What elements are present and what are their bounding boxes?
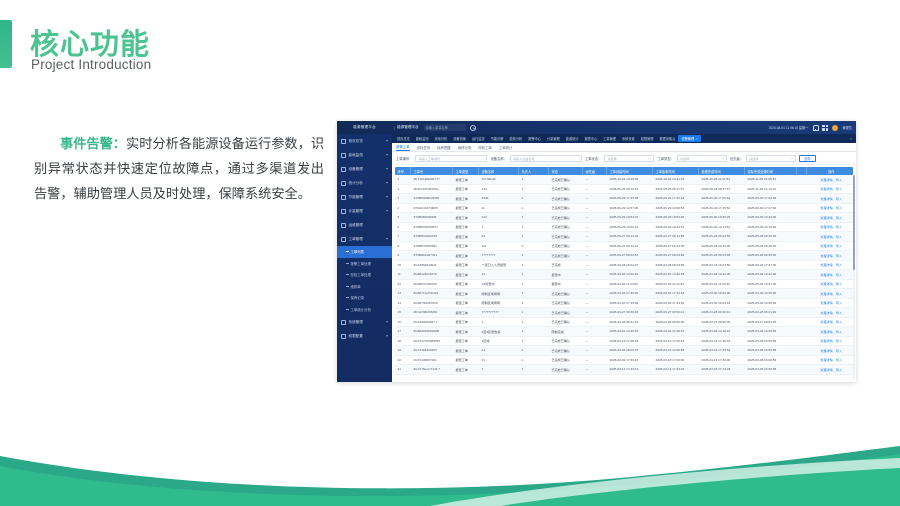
bullet-icon (346, 251, 349, 252)
filter-select-value: 请选择 (607, 156, 616, 161)
open-tab-2[interactable]: 用电分析 (432, 135, 451, 142)
cell-t1: 2025-03-03 17:35:00 (607, 291, 653, 295)
gear-icon (341, 320, 346, 325)
dashboard-icon (341, 139, 346, 144)
cell-t1: 2025-06-29 17:23:05 (607, 196, 653, 200)
table-row[interactable]: 7Z79BH04209763报警工单441已完成已确认—2025-06-27 0… (395, 232, 853, 242)
cell-type: 报警工单 (453, 253, 479, 258)
sidebar-subitem-label: 保养记录 (351, 295, 365, 300)
table-row[interactable]: 11ZG80123216170报警工单121报警中—2025-03-03 14:… (395, 270, 853, 280)
row-action-link[interactable]: 处理详情 (820, 243, 832, 248)
cell-t4: 2025-06-30 10:15:00 (745, 225, 797, 229)
cell-t2: 2025-10-24 14:31:34 (653, 177, 699, 181)
row-action-link[interactable]: 处理详情 (820, 196, 832, 201)
open-tab-15[interactable]: 告警管理× (678, 135, 701, 142)
sidebar-main-menu: 首页总览能耗监测设备管理统计分析节能管理计量管理运维管理工单管理 (337, 134, 392, 246)
open-tab-7[interactable]: 报警中心 (525, 135, 544, 142)
table-column-header-12: 操作 (807, 167, 853, 175)
ticket-icon (341, 237, 346, 242)
cell-t1: 2025-05-25 08:10:15 (607, 187, 653, 191)
module-tab-5[interactable]: 工单统计 (499, 145, 513, 152)
cell-t2: 2025-03-03 14:32:18 (653, 272, 699, 276)
cell-t2: 2025-03-03 11:22:32 (653, 282, 699, 286)
row-action-link[interactable]: 导入 (836, 300, 842, 305)
module-tab-3[interactable]: 维修记录 (458, 145, 472, 152)
cell-t4: 2025-03-06 03:06:58 (745, 358, 797, 362)
sidebar-item-0[interactable]: 首页总览 (337, 134, 392, 148)
cell-no: 1 (395, 177, 411, 181)
table-row[interactable]: 14ZG8073G2676C0报警工单限制区域阐明1已完成已确认—2025-03… (395, 299, 853, 309)
sidebar-item-4[interactable]: 节能管理 (337, 190, 392, 204)
cell-type: 报警工单 (453, 310, 479, 315)
avatar[interactable] (832, 125, 838, 131)
table-row[interactable]: 8Z79BH47900381报警工单1111已完成已确认—2025-06-27 … (395, 242, 853, 252)
sidebar-item-6[interactable]: 运维管理 (337, 218, 392, 232)
cell-t1: 2025-10-24 14:29:05 (607, 177, 653, 181)
module-tabs: 报警工单巡检任务保养提醒维修记录停机工单工单统计 (392, 143, 856, 152)
cell-owner: 1 (519, 310, 549, 314)
table-row[interactable]: 20ZG72106807201报警工单311已完成已确认—2025-03-02 … (395, 356, 853, 366)
query-button[interactable]: 查询 (799, 155, 815, 162)
cell-t3: 2025-06-30 10:25:26 (699, 215, 745, 219)
bullet-icon (346, 263, 349, 264)
table-row[interactable]: 12ZG08H1703F007报警工单A2时警中1报警中—2025-03-03 … (395, 280, 853, 290)
filter-toolbar: 工单编号：请输入工单编号设备名称：请输入设备名称工单状态：请选择工单类型：请选择… (392, 152, 856, 165)
row-action-link[interactable]: 处理详情 (820, 310, 832, 315)
open-tab-9[interactable]: 能源统计 (563, 135, 582, 142)
filter-label-4: 优先级： (730, 156, 743, 161)
cell-t4: 2025-03-06 03:06:58 (745, 348, 797, 352)
sidebar-subitem-label: 工单统计分析 (351, 307, 371, 312)
chevron-down-icon (722, 158, 724, 159)
cell-no: 13 (395, 291, 411, 295)
cell-no: 3 (395, 196, 411, 200)
cell-code: ZG80123216170 (411, 272, 453, 276)
table-column-header-11 (797, 167, 807, 175)
cell-t1: 2025-03-28 09:04:07 (607, 263, 653, 267)
cell-no: 12 (395, 282, 411, 286)
open-tab-6[interactable]: 能效分析 (507, 135, 526, 142)
cell-pri: — (583, 339, 607, 343)
cell-status: 已完成已确认 (549, 348, 583, 353)
cell-no: 15 (395, 310, 411, 314)
row-action-link[interactable]: 导入 (836, 205, 842, 210)
row-action-link[interactable]: 处理详情 (820, 357, 832, 362)
cell-no: 16 (395, 320, 411, 324)
chevron-down-icon (649, 158, 651, 159)
row-action-link[interactable]: 处理详情 (820, 300, 832, 305)
row-action-link[interactable]: 导入 (836, 215, 842, 220)
cell-t4: 2025-03-30 10:05:00 (745, 291, 797, 295)
filter-input-0[interactable]: 请输入工单编号 (415, 155, 487, 162)
cell-pri: — (583, 187, 607, 191)
scrollbar-thumb[interactable] (853, 175, 855, 270)
cell-pri: — (583, 234, 607, 238)
cell-t1: 2025-06-27 09:04:51 (607, 253, 653, 257)
cell-type: 报警工单 (453, 348, 479, 353)
table-row[interactable]: 5Z79B460002905报警工单2221已完成已确认—2025-06-29 … (395, 213, 853, 223)
cell-no: 20 (395, 358, 411, 362)
cell-t2: 2025-06-27 09:04:48 (653, 253, 699, 257)
open-tab-label: 告警管理 (681, 136, 694, 141)
sidebar-subitem-0[interactable]: 工单列表 (337, 246, 392, 258)
open-tab-5[interactable]: 节能诊断 (488, 135, 507, 142)
open-tab-4[interactable]: 运行监控 (469, 135, 488, 142)
chevron-down-icon (386, 335, 388, 337)
cell-status: 已完成已确认 (549, 243, 583, 248)
cell-no: 17 (395, 329, 411, 333)
row-action-link[interactable]: 导入 (836, 367, 842, 372)
open-tab-0[interactable]: 首页总览 (394, 135, 413, 142)
cell-t4: 2025-03-04 10:42:00 (745, 272, 797, 276)
cell-t4: 2025-06-30 10:24:00 (745, 215, 797, 219)
cell-actions: 处理详情导入 (807, 215, 853, 220)
open-tab-label: 能耗监测 (416, 136, 429, 141)
row-action-link[interactable]: 导入 (836, 319, 842, 324)
bottom-wave-decoration (0, 420, 900, 506)
row-action-link[interactable]: 处理详情 (820, 329, 832, 334)
cell-status: 报警中 (549, 281, 583, 286)
app-screenshot: 能源管理平台 | 能源管理平台 请输入菜单名称 2025-08-04 11:06… (337, 121, 856, 382)
cell-t4: 2025-06-28 09:45:00 (745, 234, 797, 238)
breadcrumb: 能源管理平台 (397, 125, 419, 130)
filter-select-value: 请选择 (749, 156, 758, 161)
cell-actions: 处理详情导入 (807, 196, 853, 201)
cell-owner: 1 (519, 263, 549, 267)
cell-t3: 2025-03-19 17:25:53 (699, 348, 745, 352)
cell-owner: 1 (519, 367, 549, 371)
bullet-icon (346, 274, 349, 275)
cell-pri: — (583, 310, 607, 314)
row-action-link[interactable]: 处理详情 (820, 272, 832, 277)
cell-t1: 2025-03-26 09:51:13 (607, 320, 653, 324)
open-tab-11[interactable]: 工单管理 (600, 135, 619, 142)
row-action-link[interactable]: 导入 (836, 243, 842, 248)
cell-type: 报警工单 (453, 338, 479, 343)
filter-select-2[interactable]: 请选择 (604, 155, 654, 162)
cell-status: 已完成已确认 (549, 205, 583, 210)
module-tab-1[interactable]: 巡检任务 (417, 145, 431, 152)
sidebar-item-5[interactable]: 计量管理 (337, 204, 392, 218)
cell-t1: 2025-03-18 17:08:03 (607, 339, 653, 343)
table-row[interactable]: 3Z79BH00304H289报警工单33331已完成已确认—2025-06-2… (395, 194, 853, 204)
cell-actions: 处理详情导入 (807, 319, 853, 324)
open-tab-13[interactable]: 权限管理 (638, 135, 657, 142)
cell-t3: 2025-06-28 09:44:05 (699, 244, 745, 248)
row-action-link[interactable]: 处理详情 (820, 338, 832, 343)
cell-t2: 2025-03-14 17:33:03 (653, 367, 699, 371)
row-action-link[interactable]: 导入 (836, 177, 842, 182)
cell-actions: 处理详情导入 (807, 234, 853, 239)
cell-type: 报警工单 (453, 177, 479, 182)
cell-t1: 2025-06-29 10:54:01 (607, 215, 653, 219)
cell-device: 21 (479, 348, 519, 352)
module-tab-0[interactable]: 报警工单 (396, 144, 410, 152)
cell-status: 已完成已确认 (549, 253, 583, 258)
cell-type: 报警工单 (453, 319, 479, 324)
table-column-header-10: 实际完成处理时间 (745, 167, 797, 175)
cell-pri: — (583, 244, 607, 248)
row-action-link[interactable]: 处理详情 (820, 348, 832, 353)
sidebar-subitem-1[interactable]: 报警工单处理 (337, 258, 392, 270)
cell-code: Z79BH47900381 (411, 244, 453, 248)
cell-pri: — (583, 282, 607, 286)
cell-t4: 2025-06-09 10:31:00 (745, 282, 797, 286)
row-action-link[interactable]: 导入 (836, 281, 842, 286)
cell-owner: 1 (519, 272, 549, 276)
sidebar-item-7[interactable]: 工单管理 (337, 232, 392, 246)
cell-t2: 2025-06-29 17:32:43 (653, 196, 699, 200)
cell-status: 已完成已确认 (549, 319, 583, 324)
cell-t4: 2025-06-28 09:45:00 (745, 244, 797, 248)
filter-input-1[interactable]: 请输入设备名称 (510, 155, 582, 162)
cell-device: 1 (479, 367, 519, 371)
filter-select-3[interactable]: 请选择 (677, 155, 727, 162)
row-action-link[interactable]: 导入 (836, 196, 842, 201)
row-action-link[interactable]: 导入 (836, 234, 842, 239)
cell-t2: 2025-03-18 14:56:53 (653, 348, 699, 352)
cell-actions: 处理详情导入 (807, 186, 853, 191)
row-action-link[interactable]: 导入 (836, 253, 842, 258)
row-action-link[interactable]: 导入 (836, 224, 842, 229)
table-row[interactable]: 21ZG7276eeG7144.7报警工单11已完成已确认—2025-03-14… (395, 365, 853, 375)
chevron-down-icon (386, 238, 388, 240)
row-action-link[interactable]: 处理详情 (820, 177, 832, 182)
slide-root: 核心功能 Project Introduction 事件告警：实时分析各能源设备… (0, 0, 900, 506)
paragraph-lead: 事件告警： (60, 137, 126, 152)
grid-apps-icon[interactable] (822, 125, 828, 131)
table-row[interactable]: 15ZKG1H00406301报警工单77777777771已完成已确认—202… (395, 308, 853, 318)
cell-code: ZG72104403453 (411, 348, 453, 352)
cell-t3: 2025-03-27 09:50:00 (699, 320, 745, 324)
cell-t4: 2025-06-30 17:27:00 (745, 206, 797, 210)
cell-pri: — (583, 253, 607, 257)
cell-t1: 2025-03-03 17:35:00 (607, 301, 653, 305)
close-icon[interactable]: × (696, 137, 698, 141)
cell-type: 报警工单 (453, 196, 479, 201)
sidebar-subitem-3[interactable]: 维修单 (337, 281, 392, 293)
cell-type: 报警工单 (453, 367, 479, 372)
module-tab-4[interactable]: 停机工单 (478, 145, 492, 152)
cell-code: Z79B0014G7321 (411, 253, 453, 257)
cell-type: 报警工单 (453, 272, 479, 277)
filter-select-value: 请选择 (680, 156, 689, 161)
table-body: 1ZKTJ07401001777报警工单XC-34kwh1已完成已确认—2025… (395, 175, 853, 382)
row-action-link[interactable]: 导入 (836, 291, 842, 296)
table-row[interactable]: 18ZG7272700489861报警工单4区域1已完成已确认—2025-03-… (395, 337, 853, 347)
cell-t2: 2025-03-27 08:50:41 (653, 310, 699, 314)
app-brand: 能源管理平台 (337, 125, 392, 130)
cell-type: 报警工单 (453, 234, 479, 239)
cell-type: 报警工单 (453, 329, 479, 334)
sidebar-item-label: 运维管理 (349, 223, 363, 228)
cell-actions: 处理详情导入 (807, 357, 853, 362)
cell-pri: — (583, 358, 607, 362)
cell-t1: 2025-03-14 17:43:14 (607, 367, 653, 371)
filter-label-1: 设备名称： (490, 156, 506, 161)
table-row[interactable]: 4Z79AC44173M25报警工单111已完成已确认—2025-06-29 1… (395, 204, 853, 214)
cell-code: Z79B460002905 (411, 215, 453, 219)
row-action-link[interactable]: 处理详情 (820, 215, 832, 220)
filter-select-4[interactable]: 请选择 (746, 155, 796, 162)
list-menu-icon[interactable]: ≡ (850, 137, 856, 141)
sidebar-submenu: 工单列表报警工单处理巡检工单处理维修单保养记录工单统计分析 (337, 246, 392, 315)
sidebar-item-3[interactable]: 统计分析 (337, 176, 392, 190)
open-tab-14[interactable]: 数据采集点 (657, 135, 679, 142)
cell-t3: 2025-03-01 10:23:50 (699, 263, 745, 267)
chevron-down-icon (386, 196, 388, 198)
cell-t3: 2025-03-15 17:13:03 (699, 367, 745, 371)
cell-t3: 2025-06-28 09:34:48 (699, 253, 745, 257)
chevron-down-icon (386, 168, 388, 170)
row-action-link[interactable]: 处理详情 (820, 281, 832, 286)
cell-status: 已完成已确认 (549, 291, 583, 296)
table-row[interactable]: 17ZG80301869108B报警工单2区5区警告桌1限制完成—2025-03… (395, 327, 853, 337)
cell-status: 已完成已确认 (549, 234, 583, 239)
row-action-link[interactable]: 处理详情 (820, 234, 832, 239)
sidebar-subitem-4[interactable]: 保养记录 (337, 292, 392, 304)
row-action-link[interactable]: 导入 (836, 186, 842, 191)
sidebar-item-label: 计量管理 (349, 209, 363, 214)
row-action-link[interactable]: 处理详情 (820, 319, 832, 324)
table-row[interactable]: 19ZG72104403453报警工单211已完成已确认—2025-03-02 … (395, 346, 853, 356)
row-action-link[interactable]: 处理详情 (820, 291, 832, 296)
table-column-header-9: 处理完成时间 (699, 167, 745, 175)
cell-type: 报警工单 (453, 281, 479, 286)
open-tab-label: 工单管理 (603, 136, 616, 141)
cell-t2: 2025-03-18 17:00:00 (653, 358, 699, 362)
open-tab-label: 权限管理 (641, 136, 654, 141)
cell-no: 7 (395, 234, 411, 238)
cell-t4: 2025-06-28 09:35:00 (745, 253, 797, 257)
cell-device: 1 (479, 320, 519, 324)
table-row[interactable]: 13ZG8071G272C04报警工单限制区域阐明1已完成已确认—2025-03… (395, 289, 853, 299)
open-tab-label: 运行监控 (472, 136, 485, 141)
open-tab-label: 能效分析 (510, 136, 523, 141)
cell-no: 10 (395, 263, 411, 267)
cell-pri: — (583, 263, 607, 267)
open-tab-1[interactable]: 能耗监测 (413, 135, 432, 142)
username-label: 管理员 (842, 125, 852, 130)
table-column-header-0: 序号 (395, 167, 411, 175)
cell-pri: — (583, 291, 607, 295)
cell-no: 11 (395, 272, 411, 276)
row-action-link[interactable]: 导入 (836, 329, 842, 334)
cell-code: ZK02716130015G (411, 187, 453, 191)
cell-status: 已完成已确认 (549, 186, 583, 191)
search-icon[interactable] (470, 125, 476, 131)
cell-t3: 2025-10-25 11:01:54 (699, 177, 745, 181)
open-tab-label: 用电分析 (435, 136, 448, 141)
cell-pri: — (583, 367, 607, 371)
table-row[interactable]: 6Z79BH0007M673报警工单11已完成已确认—2025-06-29 10… (395, 223, 853, 233)
cell-no: 9 (395, 253, 411, 257)
cell-status: 已完成已确认 (549, 177, 583, 182)
cell-code: ZG7272700489861 (411, 339, 453, 343)
row-action-link[interactable]: 导入 (836, 348, 842, 353)
row-action-link[interactable]: 导入 (836, 262, 842, 267)
sidebar-subitem-5[interactable]: 工单统计分析 (337, 304, 392, 316)
row-action-link[interactable]: 处理详情 (820, 253, 832, 258)
cell-device: 限制区域阐明 (479, 300, 519, 305)
row-action-link[interactable]: 处理详情 (820, 367, 832, 372)
open-tab-8[interactable]: 计量管理 (544, 135, 563, 142)
cell-device: 31 (479, 358, 519, 362)
table-row[interactable]: 9Z79B0014G7321报警工单777777771已完成已确认—2025-0… (395, 251, 853, 261)
cell-status: 已完成已确认 (549, 367, 583, 372)
cell-code: ZG72106807201 (411, 358, 453, 362)
table-column-header-7: 工单创建时间 (607, 167, 653, 175)
search-input[interactable]: 请输入菜单名称 (424, 124, 466, 131)
cell-type: 报警工单 (453, 215, 479, 220)
table-row[interactable]: 16ZG4460003647.7报警工单11已完成已确认—2025-03-26 … (395, 318, 853, 328)
open-tab-10[interactable]: 报表中心 (582, 135, 601, 142)
cell-type: 报警工单 (453, 262, 479, 267)
cell-owner: 1 (519, 196, 549, 200)
open-tab-3[interactable]: 设备档案 (450, 135, 469, 142)
shield-icon (341, 334, 346, 339)
cell-t1: 2025-03-01 13:40:01 (607, 329, 653, 333)
cell-pri: — (583, 196, 607, 200)
table-row[interactable]: 1ZKTJ07401001777报警工单XC-34kwh1已完成已确认—2025… (395, 175, 853, 185)
row-action-link[interactable]: 导入 (836, 310, 842, 315)
row-action-link[interactable]: 处理详情 (820, 224, 832, 229)
sidebar-item-2[interactable]: 设备管理 (337, 162, 392, 176)
cell-t2: 2025-03-03 17:34:18 (653, 301, 699, 305)
chevron-down-icon (386, 210, 388, 212)
row-action-link[interactable]: 处理详情 (820, 186, 832, 191)
cell-code: ZG80301869108B (411, 329, 453, 333)
chart-icon (341, 181, 346, 186)
cell-t3: 2025-06-30 17:25:54 (699, 206, 745, 210)
bell-icon[interactable] (812, 125, 818, 131)
row-action-link[interactable]: 处理详情 (820, 205, 832, 210)
module-tab-2[interactable]: 保养提醒 (437, 145, 451, 152)
sidebar-item-1[interactable]: 能耗监测 (337, 148, 392, 162)
cell-status: 已完成已确认 (549, 300, 583, 305)
cell-actions: 处理详情导入 (807, 348, 853, 353)
cell-t1: 2025-03-27 09:30:46 (607, 310, 653, 314)
cell-code: Z79BH00304H289 (411, 196, 453, 200)
row-action-link[interactable]: 导入 (836, 338, 842, 343)
open-tab-label: 节能诊断 (491, 136, 504, 141)
header-divider: | (394, 125, 395, 130)
cell-t3: 2025-03-19 17:30:00 (699, 358, 745, 362)
row-action-link[interactable]: 处理详情 (820, 262, 832, 267)
row-action-link[interactable]: 导入 (836, 357, 842, 362)
sidebar-subitem-2[interactable]: 巡检工单处理 (337, 269, 392, 281)
sidebar-bottom-item-0[interactable]: 系统管理 (337, 315, 392, 329)
cell-device: 11 (479, 206, 519, 210)
cell-no: 6 (395, 225, 411, 229)
row-action-link[interactable]: 导入 (836, 272, 842, 277)
open-tab-12[interactable]: 系统设置 (619, 135, 638, 142)
cell-no: 2 (395, 187, 411, 191)
cell-status: 已完成已确认 (549, 196, 583, 201)
bullet-icon (346, 309, 349, 310)
sidebar-subitem-label: 工单列表 (351, 249, 365, 254)
table-row[interactable]: 2ZK02716130015G报警工单3331已完成已确认—2025-05-25… (395, 185, 853, 195)
sidebar-bottom-item-1[interactable]: 权限配置 (337, 329, 392, 343)
cell-owner: 1 (519, 301, 549, 305)
open-tab-label: 首页总览 (397, 136, 410, 141)
table-row[interactable]: 10ZG44864043041报警工单一级口入人员报警1已完成—2025-03-… (395, 261, 853, 271)
cell-status: 已完成已确认 (549, 338, 583, 343)
cell-pri: — (583, 320, 607, 324)
cell-type: 报警工单 (453, 357, 479, 362)
cell-code: Z79AC44173M25 (411, 206, 453, 210)
table-scrollbar[interactable] (853, 175, 855, 380)
